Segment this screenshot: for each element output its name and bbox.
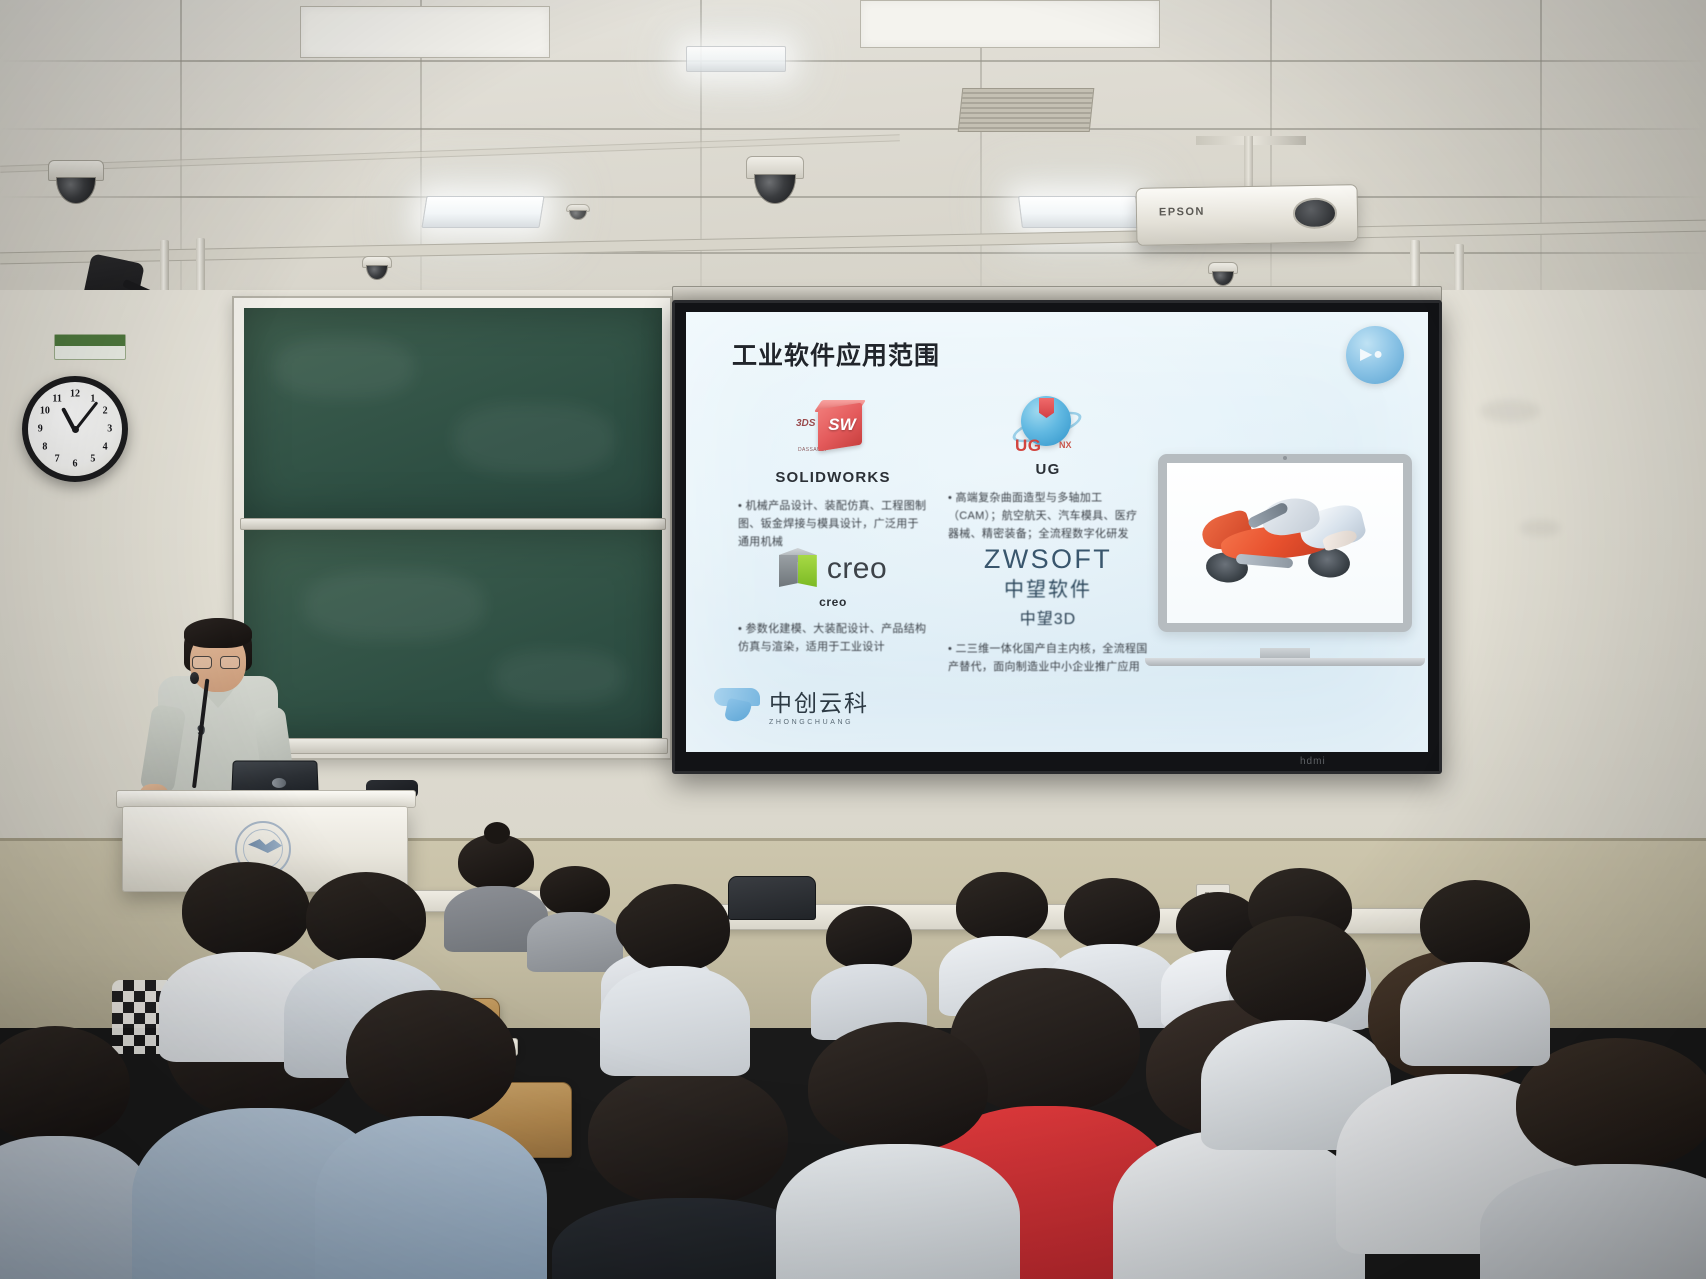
clock-num-7: 7	[55, 454, 60, 465]
student-back-grey	[540, 866, 610, 958]
zwsoft-name: 中望3D	[948, 605, 1148, 629]
slide-column-solidworks: 3DS DASSAULT SW SOLIDWORKS • 机械产品设计、装配仿真…	[738, 404, 928, 551]
zwsoft-logo-letters: ZWSOFT	[948, 544, 1148, 575]
clock-num-10: 10	[40, 406, 50, 417]
footer-logo-cn: 中创云科	[769, 684, 869, 718]
student-head	[826, 906, 912, 970]
student-head	[0, 1026, 130, 1144]
screen-brand-label: hdmi	[1300, 756, 1326, 767]
student-head	[306, 872, 426, 964]
clock-num-11: 11	[52, 393, 61, 404]
student-front-h	[808, 1022, 988, 1279]
chalkboard-upper-panel	[244, 308, 662, 520]
chair-empty-center	[728, 876, 816, 920]
ceiling-light-right	[1018, 196, 1140, 228]
presentation-slide: 工业软件应用范围 ▶● 3DS DASSAULT SW SOLIDWORKS •…	[686, 312, 1428, 752]
ug-name: UG	[948, 461, 1148, 478]
creo-bullet: • 参数化建模、大装配设计、产品结构仿真与渲染，适用于工业设计	[738, 621, 928, 657]
slide-footer-logo: 中创云科 ZHONGCHUANG	[714, 684, 869, 726]
student-head	[1420, 880, 1530, 968]
clock-num-8: 8	[42, 441, 47, 452]
student-head	[956, 872, 1048, 942]
student-hair-bun	[484, 822, 510, 844]
student-head	[620, 884, 730, 972]
solidworks-logo-icon: 3DS DASSAULT SW	[796, 404, 870, 462]
clock-center-pin	[72, 426, 79, 433]
exit-sign	[54, 334, 126, 360]
zwsoft-logo-cn: 中望软件	[948, 573, 1148, 602]
footer-logo-en: ZHONGCHUANG	[769, 719, 869, 726]
projector: EPSON	[1136, 184, 1359, 246]
creo-logo-icon: creo	[738, 548, 928, 590]
solidworks-name: SOLIDWORKS	[738, 469, 928, 486]
sensor-dome-small-right	[1208, 262, 1238, 286]
creo-name: creo	[738, 595, 928, 609]
ug-logo-letters: UG	[1015, 436, 1042, 456]
solidworks-logo-letters: SW	[826, 415, 858, 435]
smoke-detector	[566, 204, 590, 220]
creo-logo-text: creo	[827, 552, 887, 586]
sensor-dome-small	[362, 256, 392, 280]
student-front-e	[346, 990, 516, 1279]
student-head	[182, 862, 310, 958]
projector-lens	[1293, 198, 1338, 229]
clock-num-6: 6	[73, 458, 78, 469]
student-torso	[527, 912, 622, 972]
student-torso	[315, 1116, 546, 1279]
student-torso	[600, 966, 750, 1076]
security-camera-left	[48, 160, 104, 204]
slide-column-creo: creo creo • 参数化建模、大装配设计、产品结构仿真与渲染，适用于工业设…	[738, 548, 928, 657]
student-head	[588, 1066, 788, 1206]
presenter-laptop	[231, 761, 318, 794]
badge-glyph: ▶●	[1360, 344, 1384, 364]
slide-column-ug: UG NX UG • 高端复杂曲面造型与多轴加工（CAM）；航空航天、汽车模具、…	[948, 396, 1148, 543]
projector-brand-label: EPSON	[1159, 206, 1205, 219]
wall-clock: 12 1 2 3 4 5 6 7 8 9 10 11	[22, 376, 128, 482]
speaker-glasses-right	[220, 656, 240, 669]
ug-bullet: • 高端复杂曲面造型与多轴加工（CAM）；航空航天、汽车模具、医疗器械、精密装备…	[948, 490, 1148, 543]
student-head	[346, 990, 516, 1124]
lecture-hall-photo: EPSON 12 1 2 3 4 5 6 7 8 9 10 11	[0, 0, 1706, 1279]
clock-num-4: 4	[103, 441, 108, 452]
security-camera-center	[746, 156, 804, 204]
student-row2-b	[826, 906, 912, 1022]
clock-num-9: 9	[38, 424, 43, 435]
ug-logo-icon: UG NX	[1005, 396, 1091, 454]
speaker-fringe	[184, 618, 252, 648]
clock-num-5: 5	[90, 454, 95, 465]
zhongchuang-mark-icon	[714, 688, 760, 722]
student-torso	[1400, 962, 1550, 1066]
student-head	[808, 1022, 988, 1152]
speaker-glasses-left	[192, 656, 212, 669]
ceiling-light-far	[686, 46, 786, 72]
slide-media-badge: ▶●	[1346, 326, 1404, 384]
motorcycle-render	[1191, 489, 1380, 598]
zwsoft-bullet: • 二三维一体化国产自主内核，全流程国产替代，面向制造业中小企业推广应用	[948, 641, 1148, 677]
clock-num-2: 2	[103, 406, 108, 417]
microphone-head	[190, 672, 199, 684]
student-torso	[776, 1144, 1021, 1279]
student-front-f	[588, 1066, 788, 1279]
chalkboard-middle-rail	[240, 518, 666, 530]
slide-title: 工业软件应用范围	[732, 336, 940, 372]
student-front-a	[0, 1026, 130, 1279]
projector-mount-pole	[1244, 136, 1253, 192]
clock-num-3: 3	[107, 424, 112, 435]
solidworks-bullet: • 机械产品设计、装配仿真、工程图制图、钣金焊接与模具设计，广泛用于通用机械	[738, 498, 928, 551]
student-torso	[1113, 1130, 1366, 1279]
student-front-j	[1226, 916, 1366, 1136]
student-head	[540, 866, 610, 916]
student-head	[1226, 916, 1366, 1026]
ceiling-light-left	[421, 196, 544, 228]
student-head	[1064, 878, 1160, 950]
student-front-g	[620, 884, 730, 1060]
clock-num-12: 12	[70, 389, 80, 400]
ug-logo-sub: NX	[1059, 440, 1072, 450]
student-back-bun	[458, 834, 534, 944]
solidworks-vendor-text: 3DS	[796, 418, 815, 429]
ceiling-vent	[958, 88, 1095, 132]
student-front-l	[1516, 1038, 1706, 1279]
slide-laptop-mockup	[1158, 454, 1412, 666]
student-front-m	[1420, 880, 1530, 1050]
zwsoft-logo-icon: ZWSOFT 中望软件 中望3D	[948, 544, 1148, 629]
slide-column-zwsoft: ZWSOFT 中望软件 中望3D • 二三维一体化国产自主内核，全流程国产替代，…	[948, 544, 1148, 677]
